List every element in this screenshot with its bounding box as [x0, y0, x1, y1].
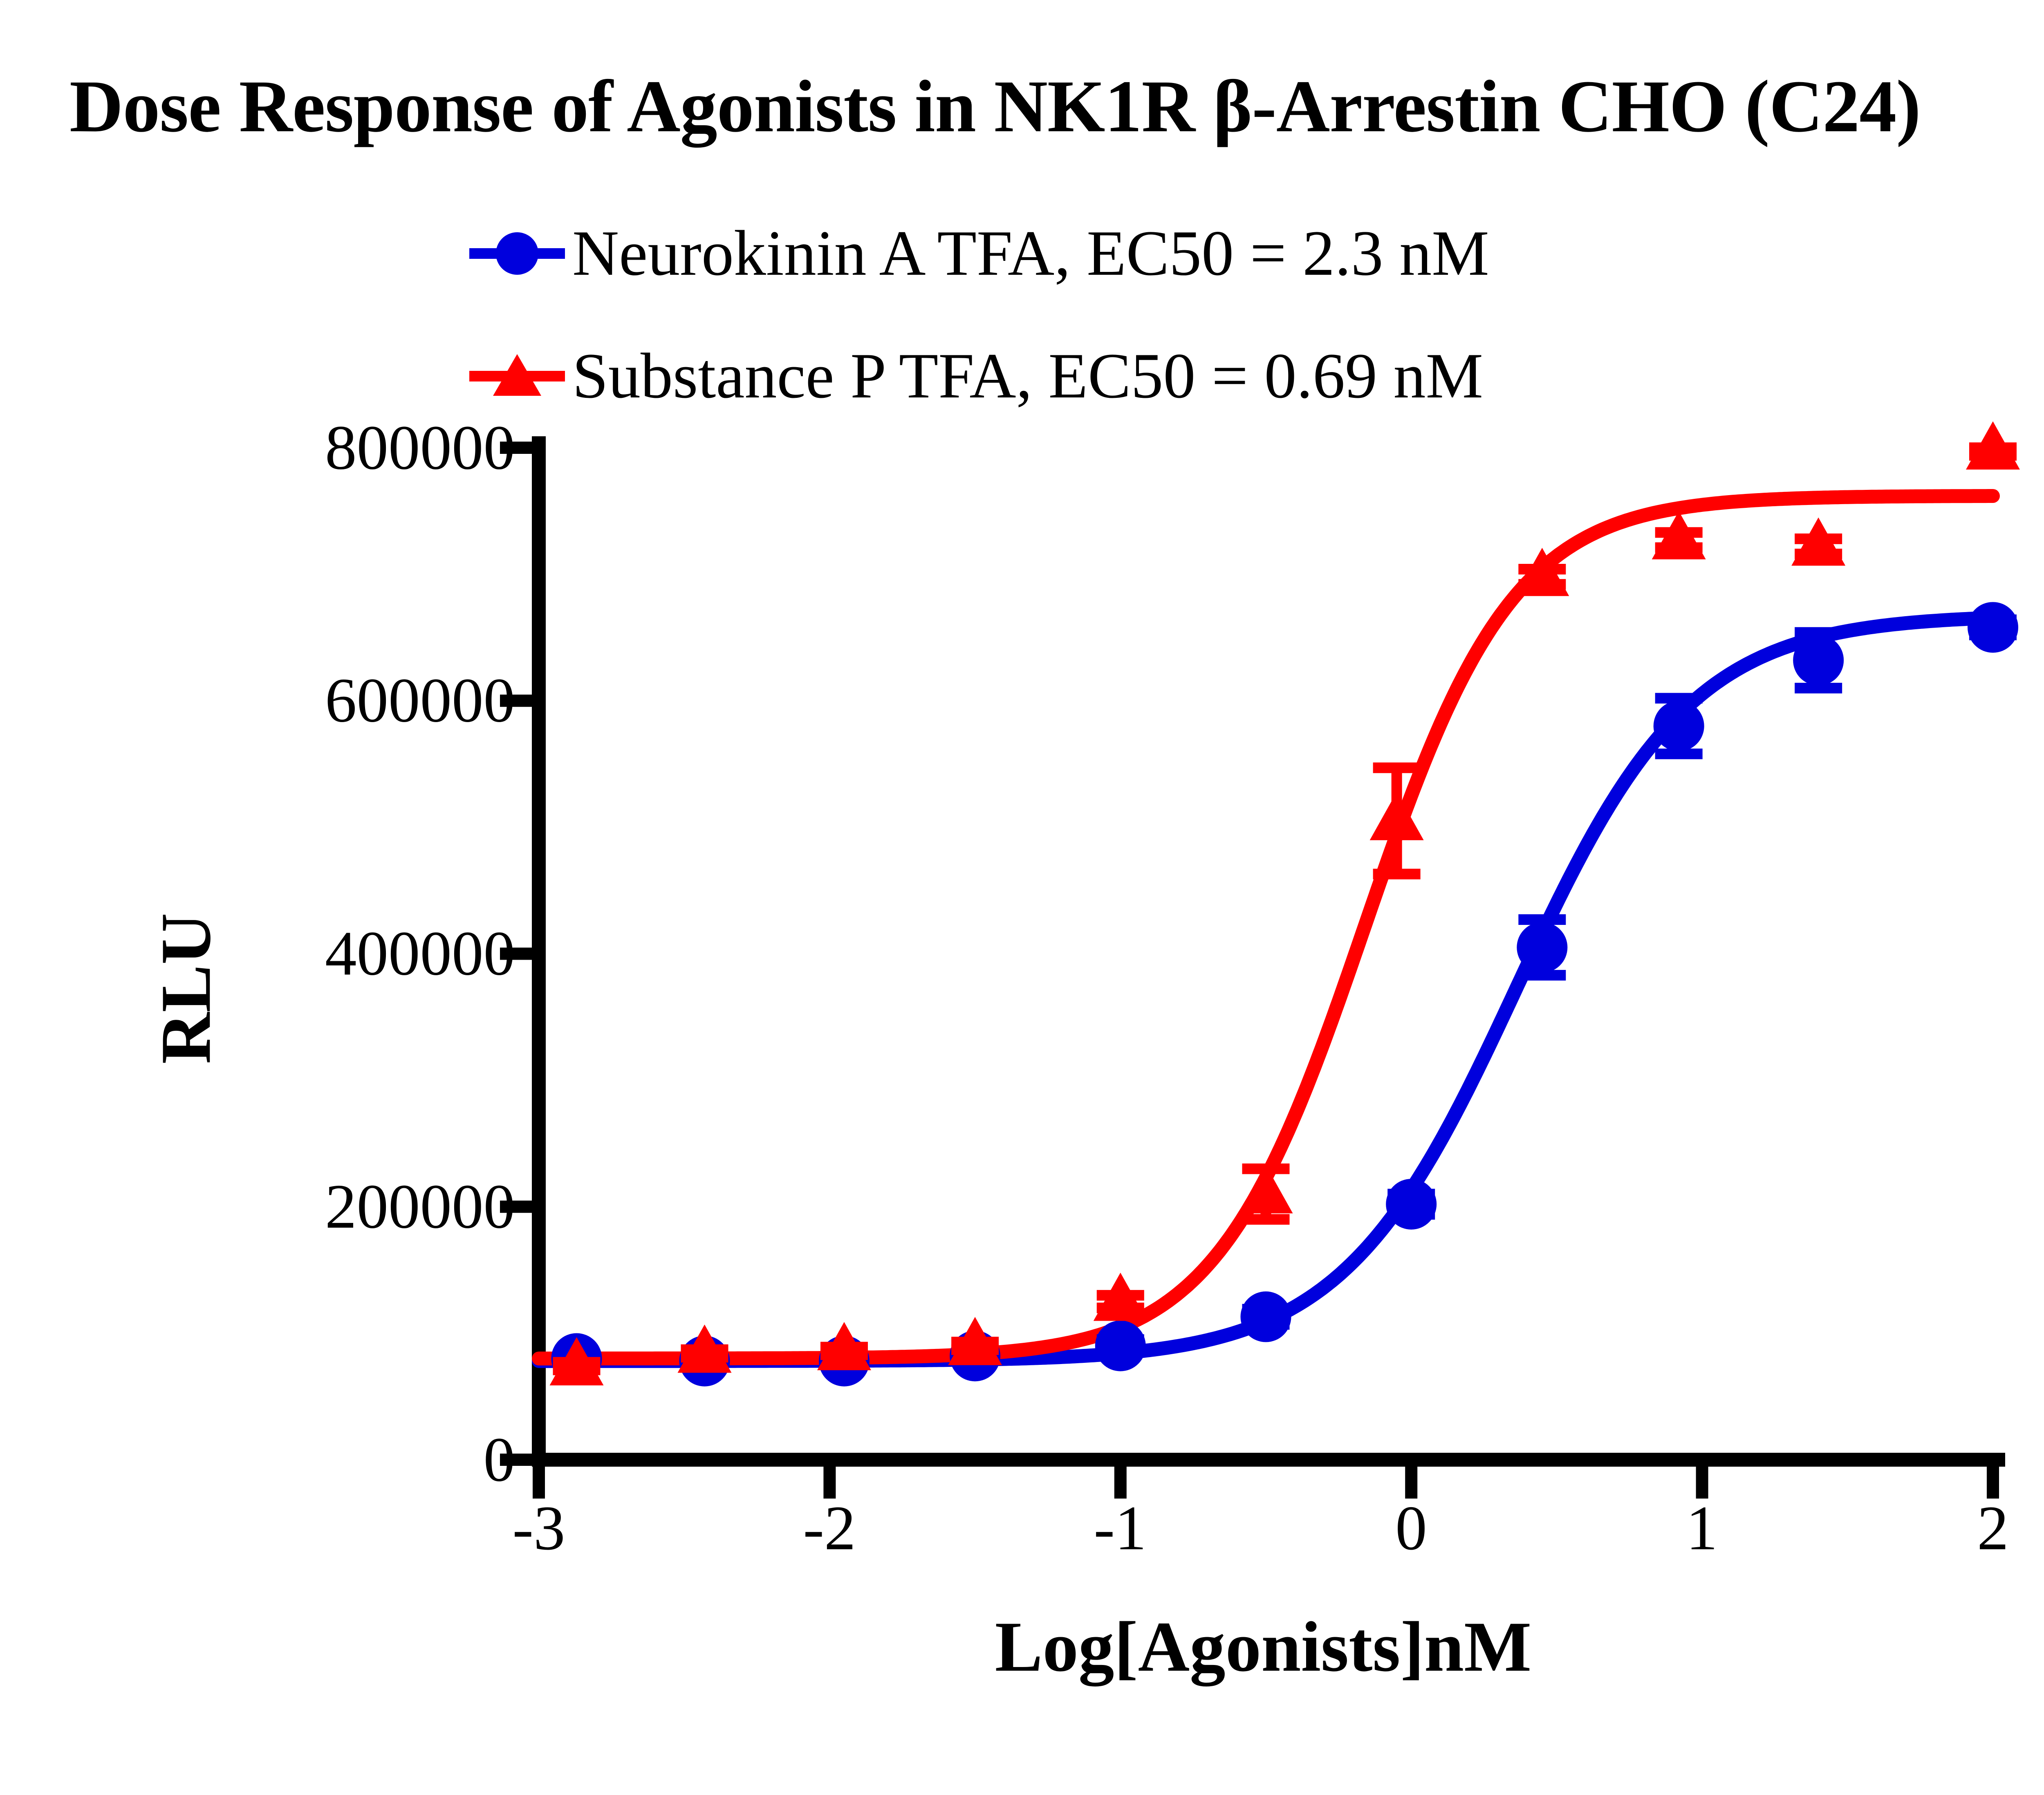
legend-item-substance-p[interactable]: Substance P TFA, EC50 = 0.69 nM: [466, 315, 1489, 438]
y-tick-label: 0: [484, 1428, 515, 1492]
x-tick-label: -2: [803, 1497, 856, 1560]
x-tick-label: -3: [512, 1497, 565, 1560]
y-tick-label: 200000: [325, 1175, 515, 1239]
x-tick-label: -1: [1094, 1497, 1146, 1560]
page-title: Dose Response of Agonists in NK1R β-Arre…: [69, 70, 1921, 144]
y-tick-label: 400000: [325, 922, 515, 985]
x-tick-label: 0: [1395, 1497, 1427, 1560]
chart-legend: Neurokinin A TFA, EC50 = 2.3 nM Substanc…: [466, 192, 1489, 438]
legend-label-neurokinin-a: Neurokinin A TFA, EC50 = 2.3 nM: [572, 221, 1489, 286]
x-tick-label: 2: [1977, 1497, 2009, 1560]
y-axis-title: RLU: [150, 913, 222, 1064]
circle-marker-icon: [466, 229, 568, 278]
y-tick-label: 600000: [325, 669, 515, 732]
y-tick-label: 800000: [325, 416, 515, 480]
legend-label-substance-p: Substance P TFA, EC50 = 0.69 nM: [572, 344, 1483, 408]
legend-item-neurokinin-a[interactable]: Neurokinin A TFA, EC50 = 2.3 nM: [466, 192, 1489, 315]
x-tick-label: 1: [1686, 1497, 1718, 1560]
x-axis-title: Log[Agonists]nM: [0, 1611, 2044, 1683]
chart-figure: Dose Response of Agonists in NK1R β-Arre…: [0, 0, 2044, 1795]
triangle-marker-icon: [466, 352, 568, 401]
